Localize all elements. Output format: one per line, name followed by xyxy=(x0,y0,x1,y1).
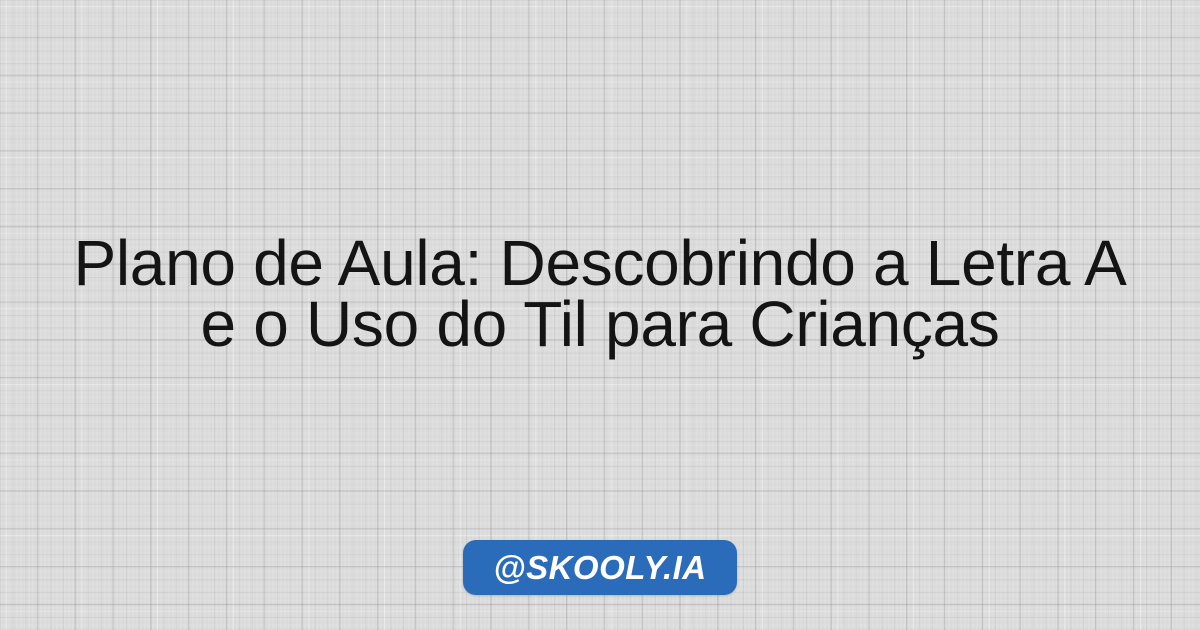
share-card: Plano de Aula: Descobrindo a Letra A e o… xyxy=(0,0,1200,630)
brand-handle-label: @SKOOLY.IA xyxy=(493,551,706,584)
page-title: Plano de Aula: Descobrindo a Letra A e o… xyxy=(26,233,1174,355)
page-title-container: Plano de Aula: Descobrindo a Letra A e o… xyxy=(0,233,1200,355)
brand-handle-badge[interactable]: @SKOOLY.IA xyxy=(463,540,736,595)
handle-badge-container: @SKOOLY.IA xyxy=(0,540,1200,595)
